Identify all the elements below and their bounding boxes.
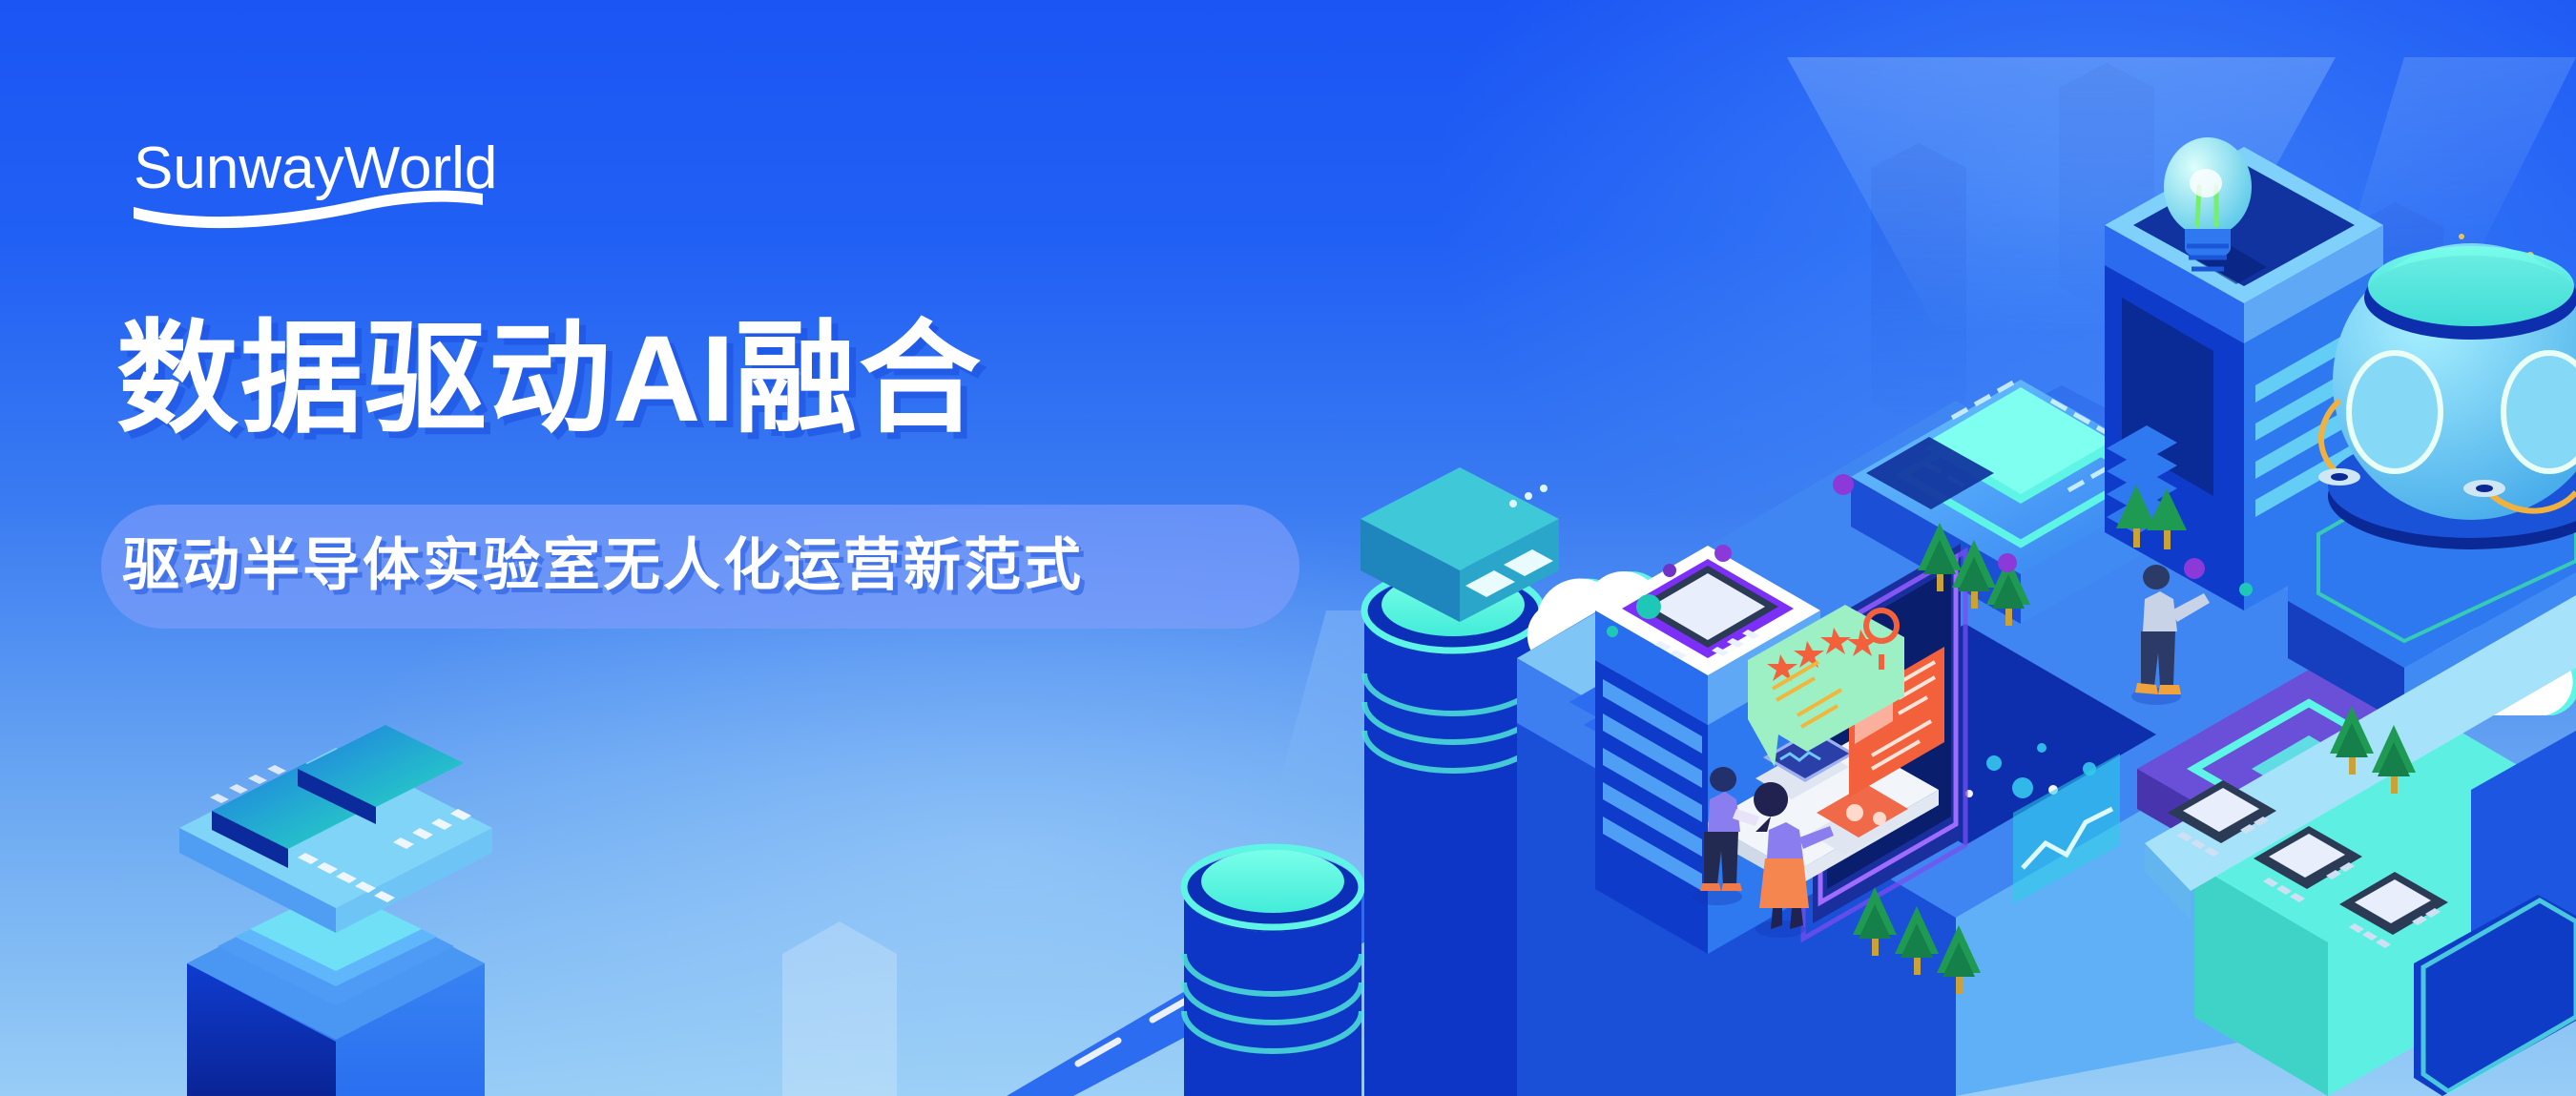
page-subtitle: 驱动半导体实验室无人化运营新范式	[122, 537, 1084, 594]
headline-post: 融合	[735, 311, 983, 447]
page-title: 数据驱动AI融合	[116, 319, 983, 441]
brand-logo[interactable]: SunwayWorld	[134, 129, 515, 243]
chip-on-pedestal	[179, 725, 492, 1096]
headline-pre: 数据驱动	[116, 311, 613, 447]
data-tower-tall	[1364, 570, 1542, 1096]
data-tower-short	[1184, 847, 1361, 1096]
far-left-buildings	[782, 921, 897, 1096]
headline-latin: AI	[613, 311, 735, 447]
hero-banner: SunwayWorld 数据驱动AI融合 驱动半导体实验室无人化运营新范式	[0, 0, 2576, 1096]
